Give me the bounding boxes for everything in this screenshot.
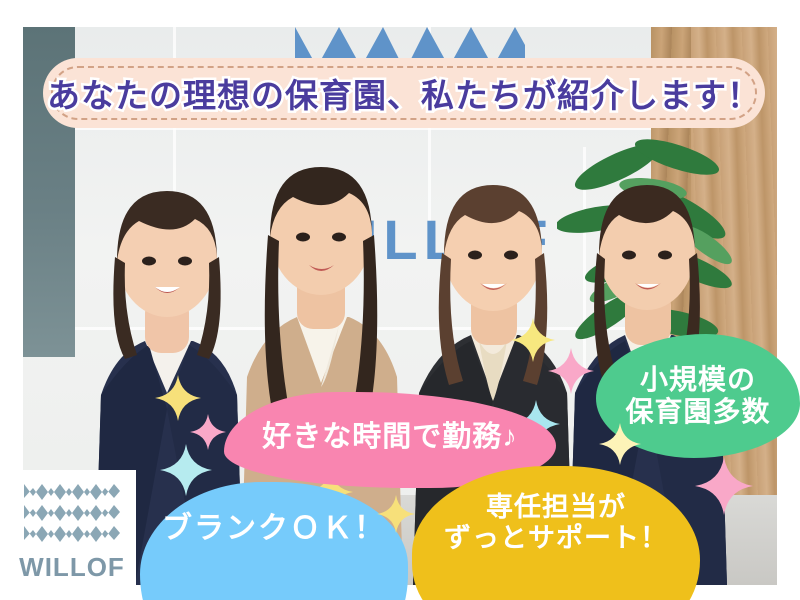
headline-banner: あなたの理想の保育園、私たちが紹介します！: [43, 58, 765, 128]
sparkle-icon: [377, 495, 415, 538]
badge-yellow-line2: ずっとサポート！: [444, 523, 668, 554]
headline-text: あなたの理想の保育園、私たちが紹介します！: [43, 58, 765, 128]
badge-green-line2: 保育園多数: [625, 396, 770, 428]
badge-pink-line1: 好きな時間で勤務♪: [262, 421, 518, 455]
sparkle-icon: [548, 348, 594, 399]
sparkle-icon: [599, 423, 641, 470]
poster-root: WILLOF: [0, 0, 800, 600]
badge-blue-line1: ブランクＯＫ！: [162, 512, 386, 547]
willof-brand-text: WILLOF: [19, 552, 125, 583]
sparkle-icon: [695, 457, 753, 520]
willof-zigzag-icon: [24, 480, 120, 547]
willof-logo-card: WILLOF: [8, 470, 136, 592]
badge-yellow-line1: 専任担当が: [444, 492, 668, 523]
badge-green-line1: 小規模の: [625, 364, 770, 396]
